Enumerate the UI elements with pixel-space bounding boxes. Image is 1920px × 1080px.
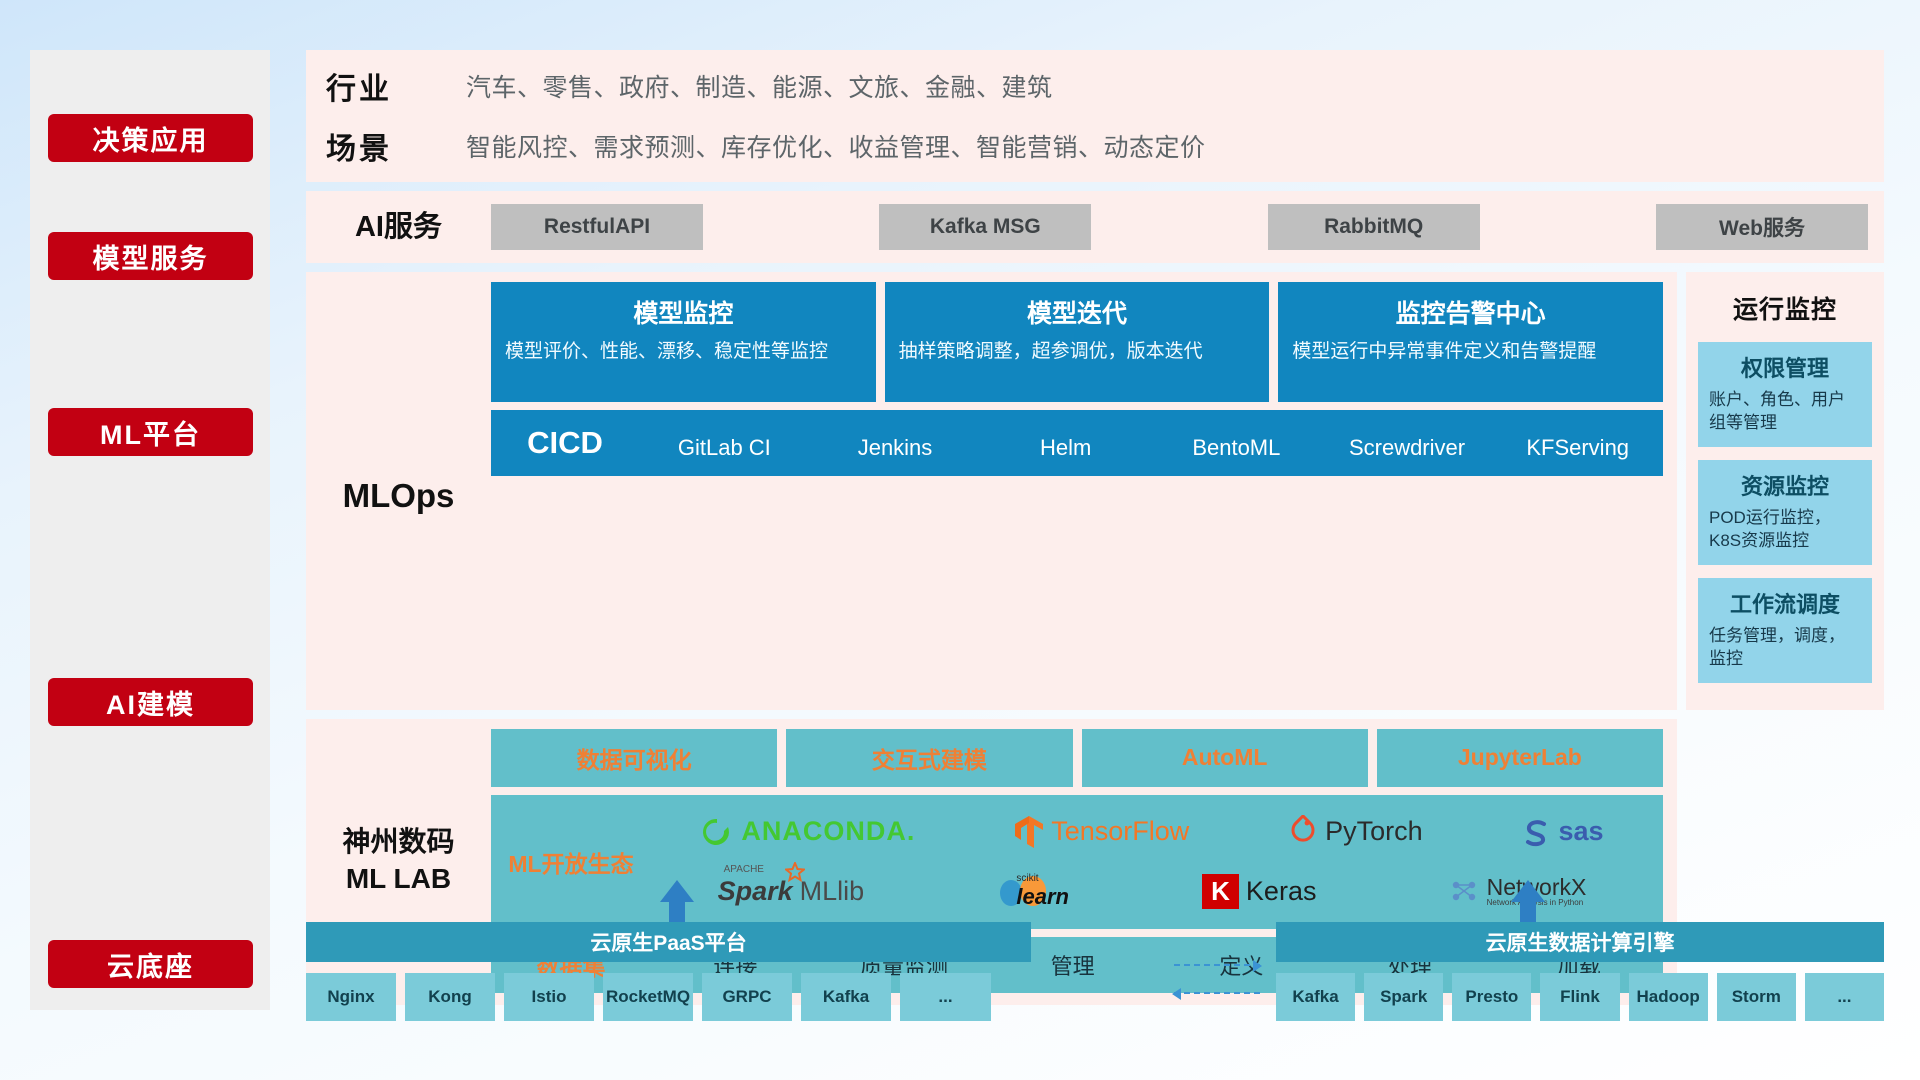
- card-desc: 抽样策略调整，超参调优，版本迭代: [899, 339, 1256, 365]
- ecosystem-logo-row-1: ANACONDA. TensorFlow: [651, 803, 1653, 861]
- card-title: 权限管理: [1709, 351, 1861, 383]
- card-desc: POD运行监控，K8S资源监控: [1709, 507, 1861, 553]
- engine-chip-flink[interactable]: Flink: [1540, 973, 1619, 1021]
- card-desc: 模型运行中异常事件定义和告警提醒: [1292, 339, 1649, 365]
- rail-item-label: ML平台: [100, 413, 201, 452]
- tensorflow-logo: TensorFlow: [1014, 814, 1189, 850]
- cicd-item-helm[interactable]: Helm: [980, 435, 1151, 460]
- cicd-item-jenkins[interactable]: Jenkins: [810, 435, 981, 460]
- service-chip-label: Kafka MSG: [930, 215, 1041, 239]
- rail-item-label: AI建模: [106, 683, 195, 722]
- sas-icon: [1521, 817, 1551, 847]
- main-stack: 行业 汽车、零售、政府、制造、能源、文旅、金融、建筑 场景 智能风控、需求预测、…: [306, 50, 1884, 1005]
- layer-rail: 决策应用 模型服务 ML平台 AI建模 云底座: [30, 50, 270, 1010]
- service-chip-label: RabbitMQ: [1324, 215, 1423, 239]
- engine-chip-presto[interactable]: Presto: [1452, 973, 1531, 1021]
- scenario-row: 场景 智能风控、需求预测、库存优化、收益管理、智能营销、动态定价: [306, 124, 1864, 168]
- rail-item-decision-apps[interactable]: 决策应用: [48, 114, 253, 162]
- spark-tag: APACHE: [724, 864, 764, 875]
- ai-service-items: RestfulAPI Kafka MSG RabbitMQ Web服务: [491, 204, 1884, 250]
- rail-item-label: 模型服务: [93, 237, 209, 276]
- rail-item-label: 决策应用: [93, 119, 209, 158]
- cicd-title: CICD: [491, 425, 639, 461]
- rail-item-ml-platform[interactable]: ML平台: [48, 408, 253, 456]
- paas-chip-kafka[interactable]: Kafka: [801, 973, 891, 1021]
- lab-tool-data-visualization[interactable]: 数据可视化: [491, 729, 777, 787]
- mlops-content: 模型监控 模型评价、性能、漂移、稳定性等监控 模型迭代 抽样策略调整，超参调优，…: [491, 282, 1677, 710]
- service-chip-label: Web服务: [1719, 212, 1805, 242]
- rail-item-model-service[interactable]: 模型服务: [48, 232, 253, 280]
- mlops-row: MLOps 模型监控 模型评价、性能、漂移、稳定性等监控 模型迭代 抽样策略调整…: [306, 272, 1884, 710]
- paas-chip-more[interactable]: ...: [900, 973, 991, 1021]
- ai-service-band: AI服务 RestfulAPI Kafka MSG RabbitMQ Web服务: [306, 191, 1884, 263]
- pytorch-icon: [1288, 815, 1318, 849]
- engine-arrow-stem: [1520, 900, 1536, 924]
- engine-arrow-icon: [1511, 880, 1545, 902]
- industry-value: 汽车、零售、政府、制造、能源、文旅、金融、建筑: [466, 68, 1053, 104]
- cicd-item-bentoml[interactable]: BentoML: [1151, 435, 1322, 460]
- paas-chip-kong[interactable]: Kong: [405, 973, 495, 1021]
- card-title: 工作流调度: [1709, 587, 1861, 619]
- card-desc: 账户、角色、用户组等管理: [1709, 389, 1861, 435]
- cicd-item-gitlab-ci[interactable]: GitLab CI: [639, 435, 810, 460]
- cicd-item-kfserving[interactable]: KFServing: [1492, 435, 1663, 460]
- engine-chip-hadoop[interactable]: Hadoop: [1629, 973, 1708, 1021]
- dash-arrow-left: [1174, 992, 1260, 994]
- monitoring-card-workflow[interactable]: 工作流调度 任务管理，调度，监控: [1698, 578, 1872, 683]
- service-chip-web-service[interactable]: Web服务: [1656, 204, 1868, 250]
- anaconda-logo: ANACONDA.: [700, 815, 915, 849]
- scenario-value: 智能风控、需求预测、库存优化、收益管理、智能营销、动态定价: [466, 128, 1206, 164]
- sas-logo-text: sas: [1558, 816, 1603, 847]
- industry-key: 行业: [306, 64, 466, 108]
- mlops-band: MLOps 模型监控 模型评价、性能、漂移、稳定性等监控 模型迭代 抽样策略调整…: [306, 272, 1677, 710]
- engine-chip-spark[interactable]: Spark: [1364, 973, 1443, 1021]
- lab-tool-automl[interactable]: AutoML: [1082, 729, 1368, 787]
- architecture-diagram: 决策应用 模型服务 ML平台 AI建模 云底座 行业 汽车、零售、政府、制造、能…: [0, 0, 1920, 1080]
- monitoring-card-permission[interactable]: 权限管理 账户、角色、用户组等管理: [1698, 342, 1872, 447]
- card-title: 模型监控: [505, 294, 862, 330]
- mlops-card-alert-center[interactable]: 监控告警中心 模型运行中异常事件定义和告警提醒: [1278, 282, 1663, 402]
- mlops-card-model-iteration[interactable]: 模型迭代 抽样策略调整，超参调优，版本迭代: [885, 282, 1270, 402]
- engine-chip-storm[interactable]: Storm: [1717, 973, 1796, 1021]
- engine-chips: Kafka Spark Presto Flink Hadoop Storm ..…: [1276, 973, 1884, 1021]
- paas-title-bar: 云原生PaaS平台: [306, 922, 1031, 962]
- paas-chip-istio[interactable]: Istio: [504, 973, 594, 1021]
- cloud-base-section: 云原生PaaS平台 Nginx Kong Istio RocketMQ GRPC…: [306, 880, 1884, 1040]
- card-desc: 任务管理，调度，监控: [1709, 625, 1861, 671]
- paas-arrow-icon: [660, 880, 694, 902]
- learn-text: learn: [1016, 884, 1069, 909]
- rail-item-ai-modeling[interactable]: AI建模: [48, 678, 253, 726]
- arrow-head-left-icon: [1172, 988, 1181, 1000]
- scenario-key: 场景: [306, 124, 466, 168]
- tensorflow-logo-text: TensorFlow: [1051, 816, 1189, 847]
- lab-tool-interactive-modeling[interactable]: 交互式建模: [786, 729, 1072, 787]
- anaconda-icon: [700, 815, 734, 849]
- ml-lab-tools: 数据可视化 交互式建模 AutoML JupyterLab: [491, 729, 1663, 787]
- mlops-card-model-monitoring[interactable]: 模型监控 模型评价、性能、漂移、稳定性等监控: [491, 282, 876, 402]
- scikit-tag: scikit: [1016, 874, 1069, 884]
- service-chip-kafka-msg[interactable]: Kafka MSG: [879, 204, 1091, 250]
- service-chip-restfulapi[interactable]: RestfulAPI: [491, 204, 703, 250]
- bidirectional-link: [1174, 964, 1260, 1020]
- card-title: 模型迭代: [899, 294, 1256, 330]
- industry-row: 行业 汽车、零售、政府、制造、能源、文旅、金融、建筑: [306, 64, 1864, 108]
- rail-item-label: 云底座: [107, 945, 194, 984]
- paas-arrow-stem: [669, 900, 685, 924]
- ml-ecosystem-key: ML开放生态: [491, 845, 651, 879]
- rail-item-cloud-base[interactable]: 云底座: [48, 940, 253, 988]
- monitoring-title: 运行监控: [1733, 290, 1837, 326]
- lab-tool-jupyterlab[interactable]: JupyterLab: [1377, 729, 1663, 787]
- paas-group: 云原生PaaS平台 Nginx Kong Istio RocketMQ GRPC…: [306, 922, 1031, 1021]
- cicd-bar: CICD GitLab CI Jenkins Helm BentoML Scre…: [491, 410, 1663, 476]
- tensorflow-icon: [1014, 814, 1044, 850]
- mlops-label: MLOps: [306, 282, 491, 710]
- paas-chip-rocketmq[interactable]: RocketMQ: [603, 973, 693, 1021]
- decision-apps-band: 行业 汽车、零售、政府、制造、能源、文旅、金融、建筑 场景 智能风控、需求预测、…: [306, 50, 1884, 182]
- monitoring-card-resource[interactable]: 资源监控 POD运行监控，K8S资源监控: [1698, 460, 1872, 565]
- ml-lab-label-line1: 神州数码: [342, 826, 454, 857]
- ai-service-label: AI服务: [306, 204, 491, 250]
- arrow-head-right-icon: [1253, 960, 1262, 972]
- mlops-cards: 模型监控 模型评价、性能、漂移、稳定性等监控 模型迭代 抽样策略调整，超参调优，…: [491, 282, 1663, 402]
- pytorch-logo-text: PyTorch: [1325, 816, 1423, 847]
- paas-chips: Nginx Kong Istio RocketMQ GRPC Kafka ...: [306, 973, 1031, 1021]
- scikit-learn-wordmark: scikit learn: [1016, 874, 1069, 910]
- engine-group: 云原生数据计算引擎 Kafka Spark Presto Flink Hadoo…: [1276, 922, 1884, 1021]
- service-chip-rabbitmq[interactable]: RabbitMQ: [1268, 204, 1480, 250]
- cicd-items: GitLab CI Jenkins Helm BentoML Screwdriv…: [639, 425, 1663, 460]
- engine-chip-more[interactable]: ...: [1805, 973, 1884, 1021]
- cicd-item-screwdriver[interactable]: Screwdriver: [1322, 435, 1493, 460]
- card-title: 监控告警中心: [1292, 294, 1649, 330]
- sas-logo: sas: [1521, 816, 1603, 847]
- pytorch-logo: PyTorch: [1288, 815, 1423, 849]
- anaconda-logo-text: ANACONDA.: [741, 816, 915, 847]
- paas-chip-grpc[interactable]: GRPC: [702, 973, 792, 1021]
- apps-rows: 行业 汽车、零售、政府、制造、能源、文旅、金融、建筑 场景 智能风控、需求预测、…: [306, 64, 1884, 168]
- engine-title-bar: 云原生数据计算引擎: [1276, 922, 1884, 962]
- runtime-monitoring-column: 运行监控 权限管理 账户、角色、用户组等管理 资源监控 POD运行监控，K8S资…: [1686, 272, 1884, 710]
- card-desc: 模型评价、性能、漂移、稳定性等监控: [505, 339, 862, 365]
- dash-arrow-right: [1174, 964, 1260, 966]
- card-title: 资源监控: [1709, 469, 1861, 501]
- service-chip-label: RestfulAPI: [544, 215, 650, 239]
- engine-chip-kafka[interactable]: Kafka: [1276, 973, 1355, 1021]
- paas-chip-nginx[interactable]: Nginx: [306, 973, 396, 1021]
